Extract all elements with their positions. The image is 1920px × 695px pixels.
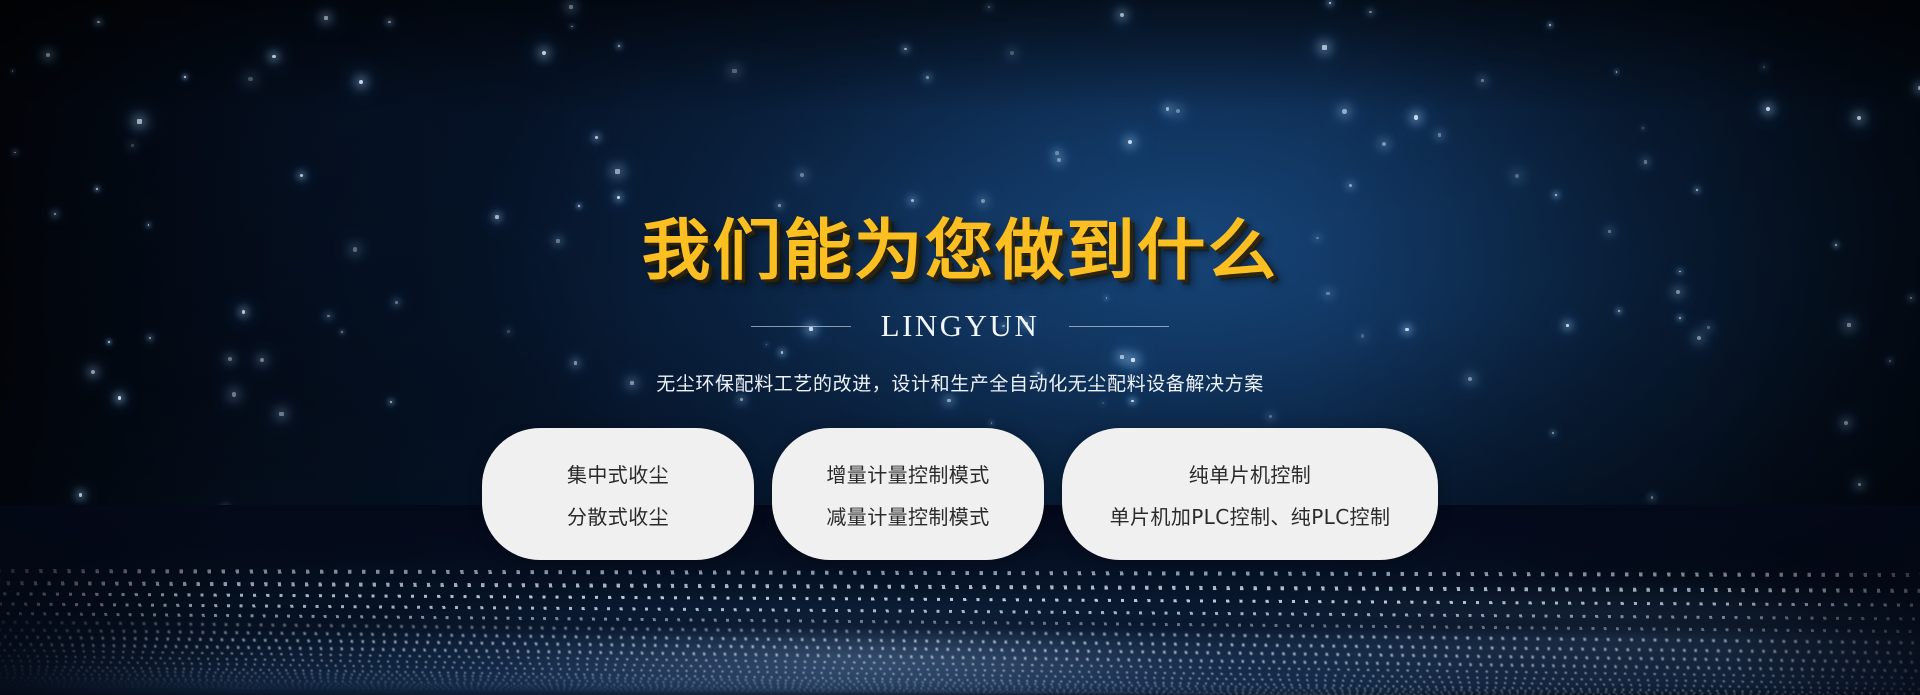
brand-name: LINGYUN <box>881 308 1040 344</box>
feature-card-dust-collection[interactable]: 集中式收尘 分散式收尘 <box>482 428 754 560</box>
card-line-secondary: 减量计量控制模式 <box>826 501 989 530</box>
feature-card-metering-mode[interactable]: 增量计量控制模式 减量计量控制模式 <box>772 428 1044 560</box>
divider-left <box>751 326 851 327</box>
brand-row: LINGYUN <box>751 308 1170 344</box>
page-title: 我们能为您做到什么 <box>642 218 1278 284</box>
divider-right <box>1069 326 1169 327</box>
feature-card-list: 集中式收尘 分散式收尘 增量计量控制模式 减量计量控制模式 纯单片机控制 单片机… <box>482 428 1438 560</box>
card-line-primary: 集中式收尘 <box>567 459 669 488</box>
tagline: 无尘环保配料工艺的改进，设计和生产全自动化无尘配料设备解决方案 <box>656 369 1264 396</box>
feature-card-control-system[interactable]: 纯单片机控制 单片机加PLC控制、纯PLC控制 <box>1062 428 1438 560</box>
card-line-secondary: 单片机加PLC控制、纯PLC控制 <box>1110 501 1391 530</box>
banner-content: 我们能为您做到什么 LINGYUN 无尘环保配料工艺的改进，设计和生产全自动化无… <box>0 0 1920 695</box>
card-line-secondary: 分散式收尘 <box>567 501 669 530</box>
card-line-primary: 增量计量控制模式 <box>826 459 989 488</box>
hero-banner: 我们能为您做到什么 LINGYUN 无尘环保配料工艺的改进，设计和生产全自动化无… <box>0 0 1920 695</box>
card-line-primary: 纯单片机控制 <box>1189 459 1311 488</box>
